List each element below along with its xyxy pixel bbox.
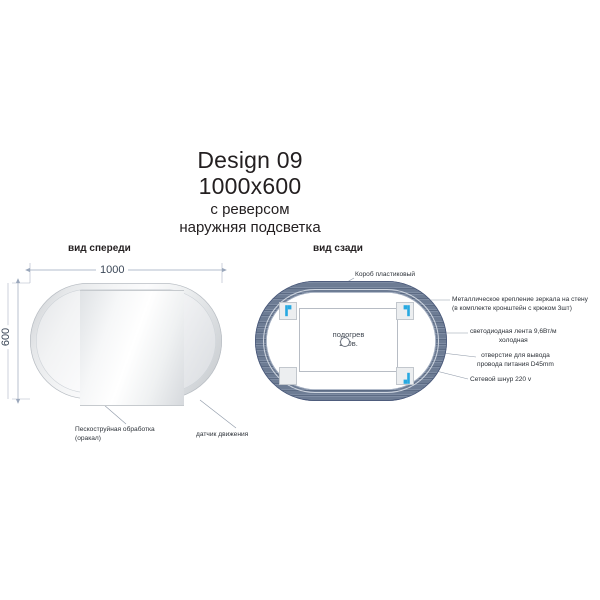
dimension-height-label: 600 [0, 325, 12, 349]
bracket-top-left [279, 302, 297, 320]
bracket-bottom-right [396, 367, 414, 385]
callout-power-cord: Сетевой шнур 220 v [470, 376, 531, 385]
callout-cable-hole: отверстие для вывода провода питания D45… [477, 352, 554, 369]
callout-led-line-2: холодная [470, 337, 557, 346]
callout-sandblast-line-2: (оракал) [75, 435, 155, 444]
hook-icon [397, 368, 415, 386]
bracket-bottom-left [279, 367, 297, 385]
power-cable-hole [340, 337, 350, 347]
feature-reverse: с реверсом [0, 202, 500, 218]
back-view-caption: вид сзади [313, 243, 363, 254]
callout-led-strip: светодиодная лента 9,6Вт/м холодная [470, 328, 557, 345]
bracket-top-right [396, 302, 414, 320]
callout-metal-mount: Металлическое крепление зеркала на стену… [452, 296, 588, 313]
model-title: Design 09 [0, 148, 500, 172]
dimension-width-label: 1000 [96, 264, 128, 276]
callout-motion-sensor: датчик движения [196, 431, 248, 440]
front-mirror-body [30, 283, 222, 399]
callout-metal-mount-line-1: Металлическое крепление зеркала на стену [452, 296, 588, 305]
callout-hole-line-2: провода питания D45mm [477, 361, 554, 370]
title-block: Design 09 1000x600 с реверсом наружняя п… [0, 148, 500, 236]
callout-sandblast: Пескоструйная обработка (оракал) [75, 426, 155, 443]
technical-drawing-page: Design 09 1000x600 с реверсом наружняя п… [0, 0, 600, 600]
callout-hole-line-1: отверстие для вывода [477, 352, 554, 361]
hook-icon [397, 303, 415, 321]
callout-led-line-1: светодиодная лента 9,6Вт/м [470, 328, 557, 337]
front-view-caption: вид спереди [68, 243, 131, 254]
callout-plastic-box: Короб пластиковый [355, 271, 415, 280]
feature-backlight: наружняя подсветка [0, 220, 500, 236]
front-mirror-surface [80, 290, 184, 406]
callout-metal-mount-line-2: (в комплекте кронштейн с крюком 3шт) [452, 305, 588, 314]
front-mirror-sandblast-band [36, 289, 216, 393]
hook-icon [280, 303, 298, 321]
size-title: 1000x600 [0, 174, 500, 198]
callout-sandblast-line-1: Пескоструйная обработка [75, 426, 155, 435]
